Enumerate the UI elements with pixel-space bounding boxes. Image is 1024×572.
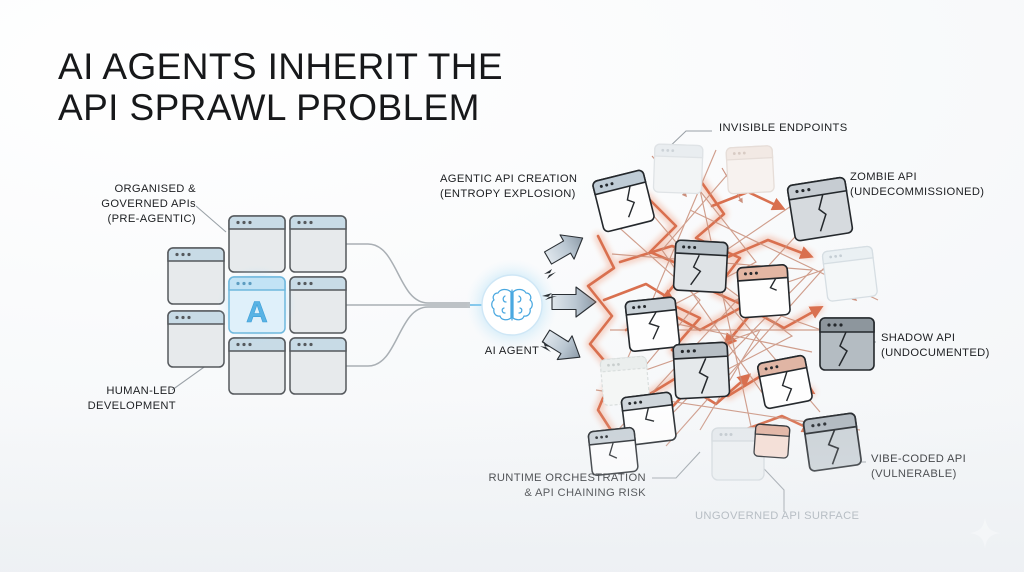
slide-canvas: AI AGENTS INHERIT THE API SPRAWL PROBLEM [0, 0, 1024, 572]
label-human-led: HUMAN-LED DEVELOPMENT [56, 384, 176, 414]
label-ungoverned-surface: UNGOVERNED API SURFACE [695, 509, 935, 524]
label-invisible-endpoints: INVISIBLE ENDPOINTS [719, 121, 909, 136]
label-vibe-coded-api: VIBE-CODED API (VULNERABLE) [871, 452, 1021, 482]
label-zombie-api: ZOMBIE API (UNDECOMMISSIONED) [850, 170, 1024, 200]
sparkle-icon [968, 516, 1002, 550]
label-runtime-orchestration: RUNTIME ORCHESTRATION & API CHAINING RIS… [456, 471, 646, 501]
label-organised-governed: ORGANISED & GOVERNED APIs (PRE-AGENTIC) [56, 182, 196, 227]
label-ai-agent: AI AGENT [462, 344, 562, 359]
label-agentic-creation: AGENTIC API CREATION (ENTROPY EXPLOSION) [440, 172, 640, 202]
label-shadow-api: SHADOW API (UNDOCUMENTED) [881, 331, 1024, 361]
